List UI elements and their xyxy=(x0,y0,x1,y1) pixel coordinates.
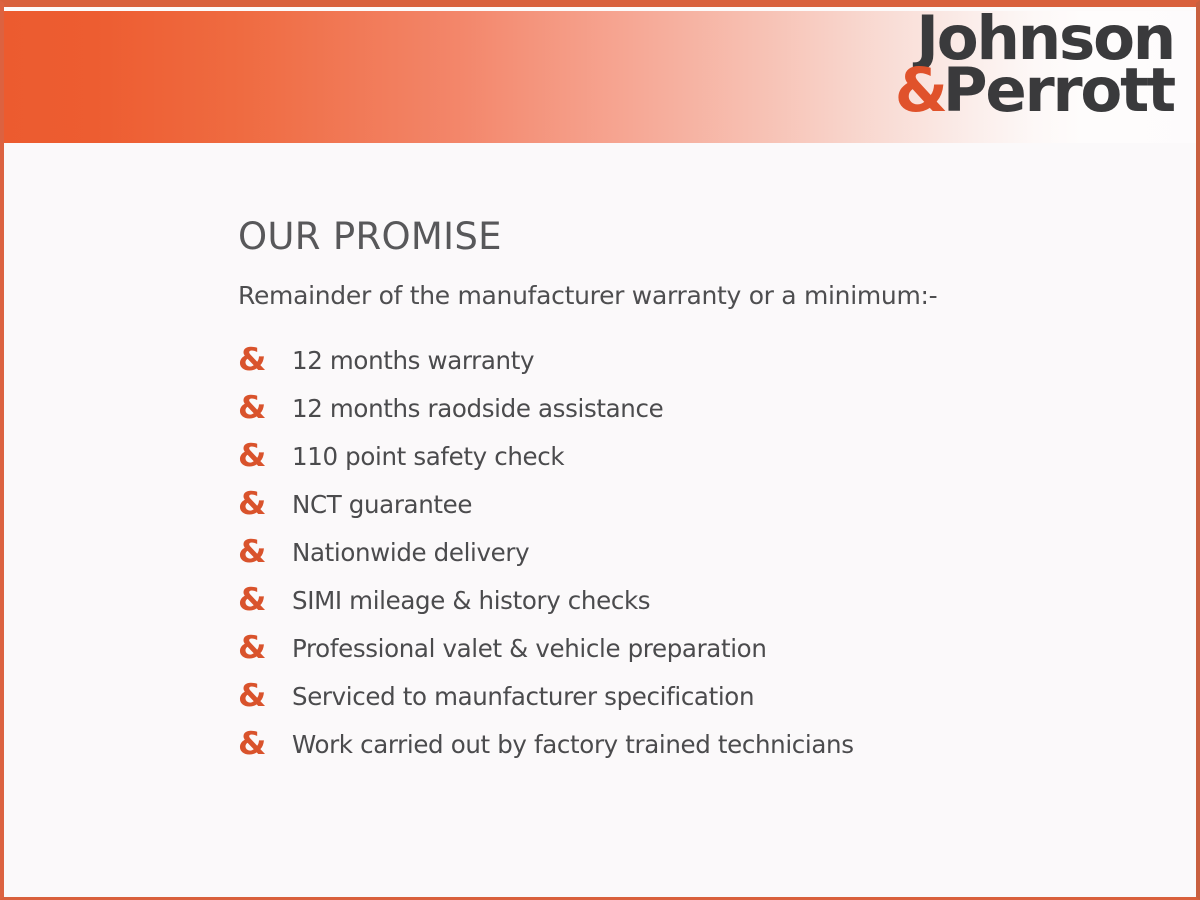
brand-logo: Johnson &Perrott xyxy=(895,11,1174,119)
list-item-label: Nationwide delivery xyxy=(292,538,529,567)
ampersand-bullet-icon: & xyxy=(238,393,295,424)
list-item: & Professional valet & vehicle preparati… xyxy=(238,625,1156,673)
page-subtitle: Remainder of the manufacturer warranty o… xyxy=(238,280,1156,311)
list-item: & 110 point safety check xyxy=(238,433,1156,481)
list-item: & Nationwide delivery xyxy=(238,529,1156,577)
list-item: & Work carried out by factory trained te… xyxy=(238,721,1156,769)
ampersand-bullet-icon: & xyxy=(238,633,295,664)
ampersand-bullet-icon: & xyxy=(238,441,295,472)
page-title: OUR PROMISE xyxy=(238,217,1156,258)
list-item-label: 110 point safety check xyxy=(292,442,564,471)
logo-wordmark-perrott: &Perrott xyxy=(895,63,1174,119)
content-area: OUR PROMISE Remainder of the manufacture… xyxy=(238,217,1156,769)
ampersand-bullet-icon: & xyxy=(238,729,295,760)
promise-list: & 12 months warranty & 12 months raodsid… xyxy=(238,337,1156,769)
list-item: & SIMI mileage & history checks xyxy=(238,577,1156,625)
promise-slide: Johnson &Perrott OUR PROMISE Remainder o… xyxy=(0,0,1200,900)
logo-ampersand-icon: & xyxy=(895,55,943,126)
list-item-label: NCT guarantee xyxy=(292,490,472,519)
ampersand-bullet-icon: & xyxy=(238,585,295,616)
list-item: & NCT guarantee xyxy=(238,481,1156,529)
list-item-label: 12 months warranty xyxy=(292,346,534,375)
list-item: & 12 months warranty xyxy=(238,337,1156,385)
ampersand-bullet-icon: & xyxy=(238,345,295,376)
ampersand-bullet-icon: & xyxy=(238,489,295,520)
list-item-label: Professional valet & vehicle preparation xyxy=(292,634,767,663)
list-item-label: Serviced to maunfacturer specification xyxy=(292,682,754,711)
list-item-label: 12 months raodside assistance xyxy=(292,394,663,423)
list-item-label: Work carried out by factory trained tech… xyxy=(292,730,854,759)
list-item: & 12 months raodside assistance xyxy=(238,385,1156,433)
logo-perrott-text: Perrott xyxy=(943,55,1174,126)
ampersand-bullet-icon: & xyxy=(238,681,295,712)
header-banner: Johnson &Perrott xyxy=(4,3,1196,145)
ampersand-bullet-icon: & xyxy=(238,537,295,568)
list-item-label: SIMI mileage & history checks xyxy=(292,586,650,615)
list-item: & Serviced to maunfacturer specification xyxy=(238,673,1156,721)
